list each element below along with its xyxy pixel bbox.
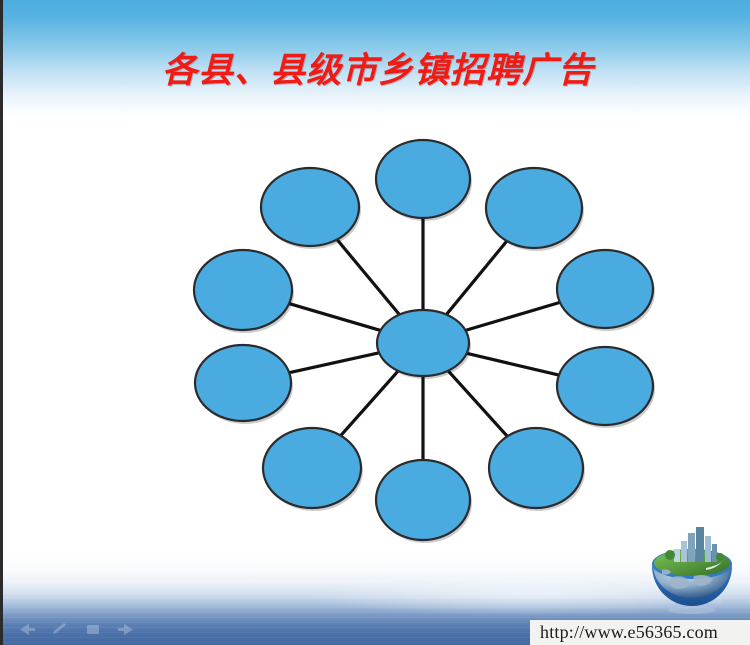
node-upper-right[interactable]	[486, 168, 584, 251]
node-top[interactable]	[376, 140, 472, 221]
spoke-to-node-upper-left	[337, 240, 399, 315]
page-title: 各县、县级市乡镇招聘广告	[3, 42, 750, 93]
node-lower-right[interactable]	[489, 428, 585, 511]
url-watermark-text: http://www.e56365.com	[540, 622, 718, 643]
spoke-to-node-left-lower	[289, 353, 379, 373]
presenter-controls[interactable]	[17, 622, 136, 637]
node-left-upper[interactable]	[194, 250, 294, 333]
spoke-to-node-right-lower	[467, 353, 559, 375]
node-bottom[interactable]	[376, 460, 472, 543]
node-left-lower[interactable]	[195, 345, 293, 424]
pen-icon[interactable]	[50, 622, 70, 637]
spoke-to-node-upper-right	[446, 241, 506, 315]
url-watermark: http://www.e56365.com	[530, 620, 750, 645]
node-upper-left[interactable]	[261, 168, 361, 249]
square-icon[interactable]	[83, 622, 103, 637]
spoke-to-node-right-upper	[466, 302, 560, 330]
arrow-right-icon[interactable]	[116, 622, 136, 637]
center-node[interactable]	[377, 310, 471, 379]
slide-canvas: 各县、县级市乡镇招聘广告	[0, 0, 750, 645]
node-right-upper[interactable]	[557, 250, 655, 331]
arrow-left-icon[interactable]	[17, 622, 37, 637]
node-lower-left[interactable]	[263, 428, 363, 511]
node-right-lower[interactable]	[557, 347, 655, 428]
spoke-to-node-lower-right	[448, 371, 507, 437]
spoke-to-node-lower-left	[341, 371, 399, 436]
globe-city-logo	[644, 524, 740, 616]
spoke-to-node-left-upper	[289, 304, 380, 331]
node-group	[194, 140, 655, 543]
